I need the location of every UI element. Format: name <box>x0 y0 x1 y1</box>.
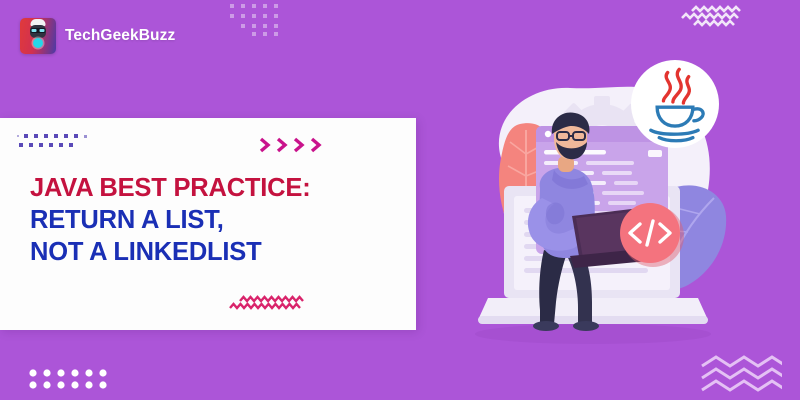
page-title: JAVA BEST PRACTICE: RETURN A LIST, NOT A… <box>30 174 398 267</box>
chevron-wave-icon <box>700 352 782 396</box>
chevron-right-icon <box>258 135 330 155</box>
title-line-2: RETURN A LIST, <box>30 206 398 235</box>
title-card: JAVA BEST PRACTICE: RETURN A LIST, NOT A… <box>0 118 416 330</box>
dot-grid-icon <box>228 2 284 36</box>
banner-root: TechGeekBuzz <box>0 0 800 400</box>
zigzag-icon <box>678 4 752 34</box>
java-logo-icon[interactable] <box>631 60 719 148</box>
brand-name: TechGeekBuzz <box>65 27 175 45</box>
dot-row-icon <box>28 368 108 390</box>
dot-grid-icon <box>17 134 91 152</box>
zigzag-icon <box>226 294 322 312</box>
header-brand[interactable]: TechGeekBuzz <box>20 18 175 54</box>
techgeekbuzz-logo-icon[interactable] <box>20 18 56 54</box>
title-line-1: JAVA BEST PRACTICE: <box>30 174 398 203</box>
title-line-3: NOT A LINKEDLIST <box>30 238 398 267</box>
java-developer-illustration <box>462 58 800 348</box>
